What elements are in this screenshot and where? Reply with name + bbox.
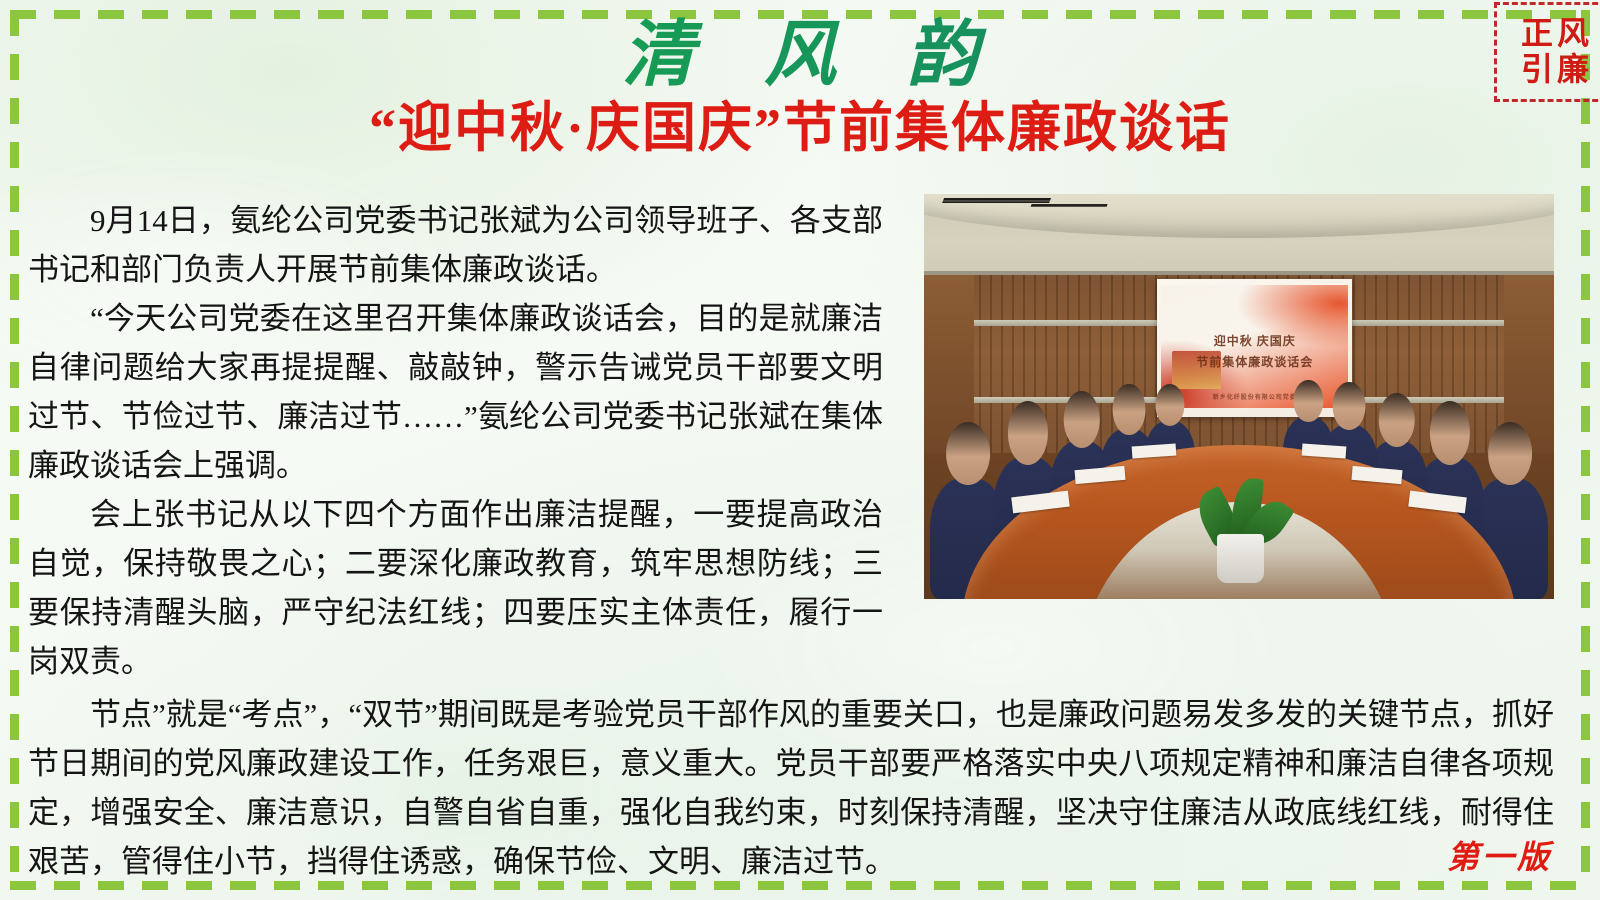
photo-ceiling-vent	[942, 198, 1051, 203]
corner-seal-stamp: 正风 引廉	[1494, 2, 1600, 102]
photo-person-head	[1063, 391, 1100, 448]
article-body: 迎中秋 庆国庆 节前集体廉政谈话会 新乡化纤股份有限公司党委	[28, 196, 1554, 886]
seal-line-1: 正风	[1517, 17, 1593, 51]
page-number-mark: 第一版	[1447, 832, 1552, 878]
article-paragraph-3: 会上张书记从以下四个方面作出廉洁提醒，一要提高政治自觉，保持敬畏之心；二要深化廉…	[28, 490, 883, 686]
photo-projector-screen: 迎中秋 庆国庆 节前集体廉政谈话会 新乡化纤股份有限公司党委	[1157, 279, 1352, 417]
newsletter-page: 清 风 韵 “迎中秋·庆国庆”节前集体廉政谈话 正风 引廉	[0, 0, 1600, 900]
article-paragraph-4: 节点”就是“考点”，“双节”期间既是考验党员干部作风的重要关口，也是廉政问题易发…	[28, 686, 1554, 886]
sub-title: “迎中秋·庆国庆”节前集体廉政谈话	[0, 97, 1600, 159]
masthead: 清 风 韵 “迎中秋·庆国庆”节前集体廉政谈话	[0, 16, 1600, 159]
article-paragraph-2: “今天公司党委在这里召开集体廉政谈话会，目的是就廉洁自律问题给大家再提提醒、敲敲…	[28, 294, 883, 490]
conference-room-photo: 迎中秋 庆国庆 节前集体廉政谈话会 新乡化纤股份有限公司党委	[924, 194, 1554, 599]
main-title: 清 风 韵	[0, 16, 1600, 95]
article-left-column: 9月14日，氨纶公司党委书记张斌为公司领导班子、各支部书记和部门负责人开展节前集…	[28, 196, 883, 686]
photo-person-head	[1378, 393, 1415, 448]
article-paragraph-1: 9月14日，氨纶公司党委书记张斌为公司领导班子、各支部书记和部门负责人开展节前集…	[28, 196, 883, 294]
photo-person-head	[1112, 384, 1145, 435]
photo-plant-pot	[1217, 534, 1264, 583]
photo-person-head	[946, 422, 990, 485]
photo-ceiling-vent-2	[1031, 204, 1108, 207]
photo-container: 迎中秋 庆国庆 节前集体廉政谈话会 新乡化纤股份有限公司党委	[924, 194, 1554, 599]
photo-person-head	[1333, 382, 1366, 430]
photo-person-head	[1488, 422, 1532, 485]
seal-line-2: 引廉	[1517, 53, 1593, 87]
photo-person-head	[1008, 401, 1048, 464]
photo-person-head	[1430, 401, 1470, 464]
